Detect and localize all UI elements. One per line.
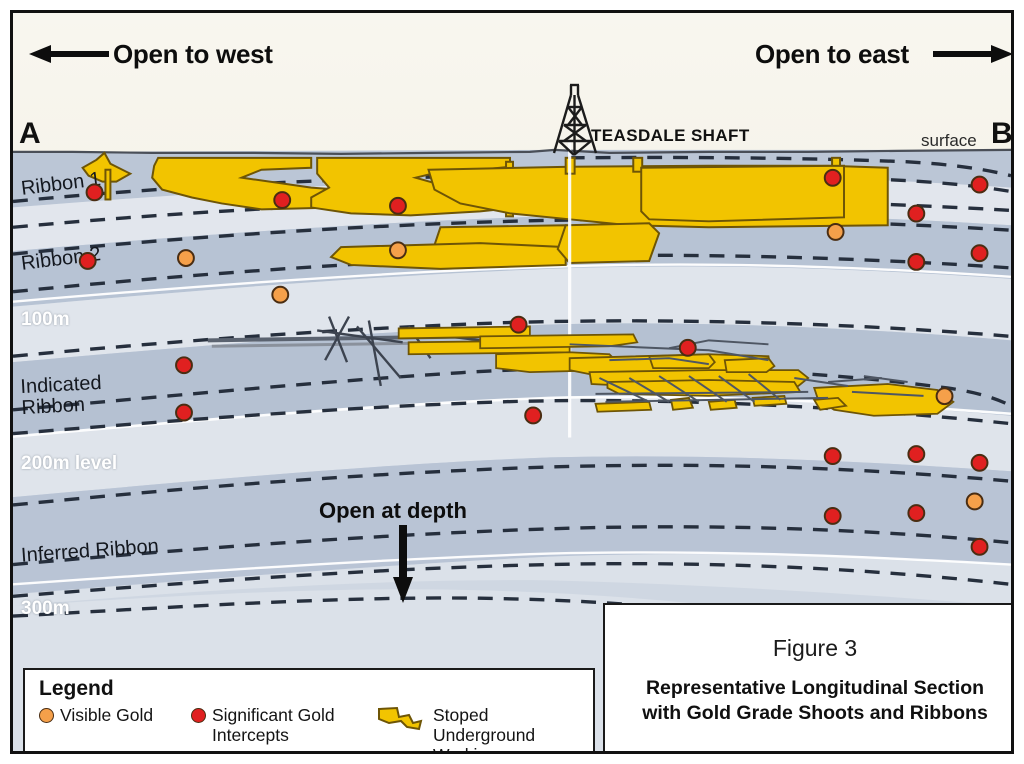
section-start-label: A [19,117,41,151]
legend-title: Legend [39,677,593,701]
legend-item-significant-gold: Significant Gold Intercepts [191,705,377,745]
legend-label-visible-gold: Visible Gold [60,705,153,725]
visible-gold-dot-icon [39,708,54,723]
indicated-ribbon-label: Indicated Ribbon [20,373,103,419]
legend-label-stoped-workings: Stoped Underground Workings [433,705,587,754]
stope-stem-left [105,170,110,200]
legend-item-visible-gold: Visible Gold [39,705,191,725]
east-arrow-icon [933,43,1013,65]
teasdale-shaft-headframe [540,81,610,159]
section-end-label: B [991,117,1013,151]
stope-lens-lower-e [558,223,659,263]
figure-number: Figure 3 [773,635,857,662]
down-arrow-icon [391,525,415,603]
stoped-workings-icon [377,705,423,731]
open-to-west-label: Open to west [113,39,273,70]
figure-frame: Open to west Open to east A B surface TE… [10,10,1014,754]
surface-label: surface [921,131,977,151]
stope-small-1 [595,402,651,412]
legend-item-stoped-workings: Stoped Underground Workings [377,705,587,754]
figure-title: Representative Longitudinal Section with… [642,676,988,727]
west-arrow-icon [29,43,109,65]
stope-small-3 [709,400,737,410]
open-to-east-label: Open to east [755,39,909,70]
open-at-depth-label: Open at depth [319,498,467,524]
figure-caption-box: Figure 3 Representative Longitudinal Sec… [603,603,1014,754]
legend-label-significant-gold: Significant Gold Intercepts [212,705,335,745]
stope-lens-east [641,166,844,222]
stope-small-4 [753,396,787,406]
figure-root: Open to west Open to east A B surface TE… [0,0,1024,764]
legend-box: Legend Visible Gold Significant Gold Int… [23,668,595,754]
stope-lens-lower-w2 [331,243,566,269]
teasdale-shaft-label: TEASDALE SHAFT [591,126,750,146]
significant-gold-dot-icon [191,708,206,723]
depth-label-200m: 200m level [21,453,117,475]
depth-label-300m: 300m [21,598,70,620]
stope-block-e [649,354,715,368]
depth-label-100m: 100m [21,309,70,331]
